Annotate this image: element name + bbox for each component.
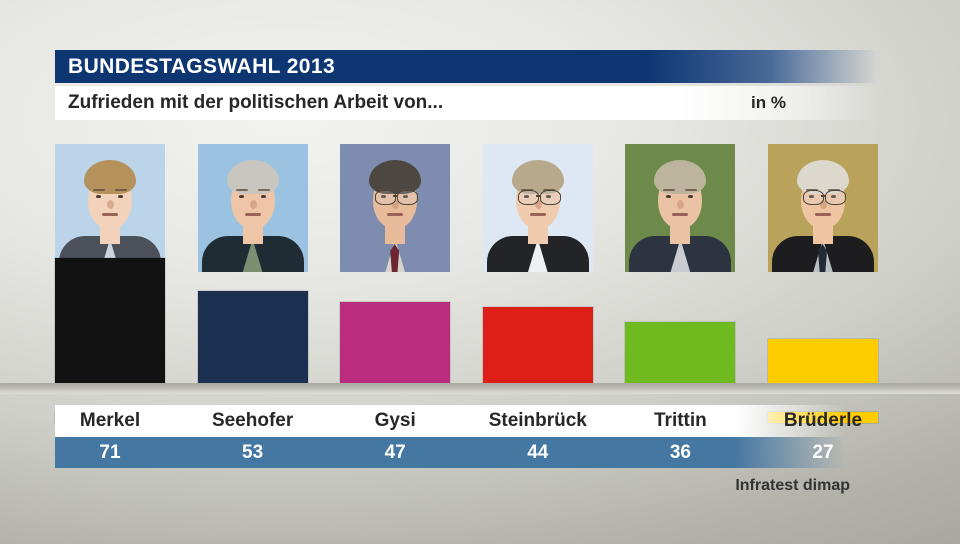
bar-seehofer [198,291,308,388]
bar-merkel [55,258,165,388]
chart-column-brüderle [768,140,878,410]
eyebrow-left [663,189,675,191]
portrait-photo [55,144,165,272]
bar-brüderle [768,339,878,388]
eye-right [688,195,693,198]
bar-steinbrück [483,307,593,388]
chart-column-steinbrück [483,140,593,410]
glasses-left-lens [375,190,396,205]
nose [250,200,257,209]
glasses-right-lens [397,190,418,205]
value-label-steinbrück: 44 [483,437,593,468]
category-label-seehofer: Seehofer [198,405,308,437]
eye-left [96,195,101,198]
chart-column-gysi [340,140,450,410]
portrait-photo [625,144,735,272]
glasses-bridge [821,195,826,197]
value-label-gysi: 47 [340,437,450,468]
hair [797,160,849,194]
chart-columns [55,140,878,410]
mouth [387,213,403,216]
eye-right [261,195,266,198]
mouth [102,213,118,216]
value-label-trittin: 36 [625,437,735,468]
eye-left [239,195,244,198]
glasses-right-lens [540,190,561,205]
unit-label: in % [751,93,786,113]
category-label-merkel: Merkel [55,405,165,437]
mouth [672,213,688,216]
chart-column-seehofer [198,140,308,410]
value-label-merkel: 71 [55,437,165,468]
category-label-brüderle: Brüderle [768,405,878,437]
chart-column-merkel [55,140,165,410]
mouth [530,213,546,216]
value-label-seehofer: 53 [198,437,308,468]
value-label-band: 715347443627 [55,437,845,468]
eyebrow-right [685,189,697,191]
glasses-left-lens [803,190,824,205]
chart-question-label: Zufrieden mit der politischen Arbeit von… [68,92,443,114]
category-label-steinbrück: Steinbrück [483,405,593,437]
bar-trittin [625,322,735,388]
mouth [815,213,831,216]
hair [227,160,279,194]
category-label-trittin: Trittin [625,405,735,437]
portrait-photo [483,144,593,272]
source-attribution: Infratest dimap [700,477,850,495]
mouth [245,213,261,216]
baseline-band [0,383,960,394]
eye-left [666,195,671,198]
page-title: BUNDESTAGSWAHL 2013 [68,55,335,79]
eyebrow-right [258,189,270,191]
header-subtitle-bar: Zufrieden mit der politischen Arbeit von… [55,86,878,120]
eye-right [118,195,123,198]
eyebrow-right [115,189,127,191]
chart-column-trittin [625,140,735,410]
portrait-photo [198,144,308,272]
hair [369,160,421,194]
eyebrow-left [236,189,248,191]
hair [654,160,706,194]
nose [107,200,114,209]
glasses-bridge [393,195,398,197]
header-title-bar: BUNDESTAGSWAHL 2013 [55,50,878,83]
portrait-photo [768,144,878,272]
glasses-bridge [536,195,541,197]
glasses-right-lens [825,190,846,205]
bar-gysi [340,302,450,388]
infographic-canvas: BUNDESTAGSWAHL 2013 Zufrieden mit der po… [0,0,960,544]
hair [512,160,564,194]
portrait-photo [340,144,450,272]
category-label-gysi: Gysi [340,405,450,437]
category-label-band: MerkelSeehoferGysiSteinbrückTrittinBrüde… [55,405,845,437]
hair [84,160,136,194]
glasses-left-lens [518,190,539,205]
eyebrow-left [93,189,105,191]
value-label-brüderle: 27 [768,437,878,468]
